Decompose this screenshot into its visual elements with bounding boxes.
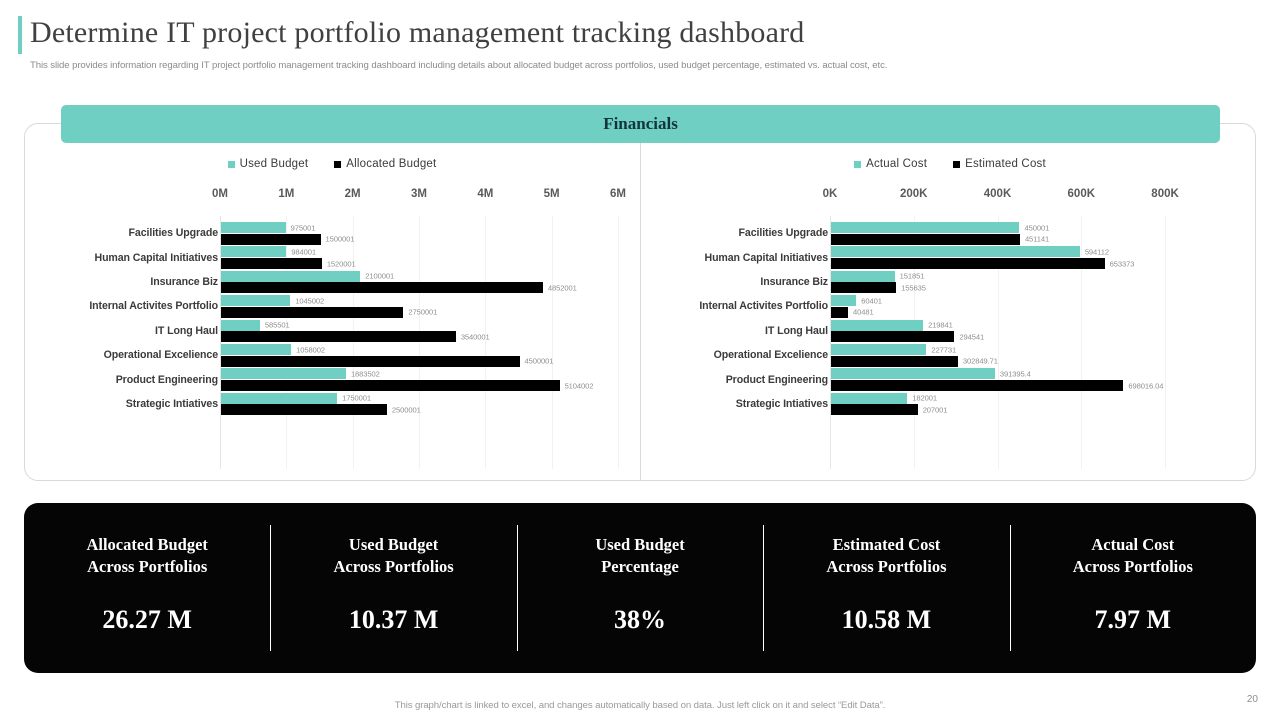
- bar-actual-cost[interactable]: [831, 344, 926, 355]
- axis-tick-label: 0K: [823, 188, 838, 200]
- bar-value-label: 1045002: [295, 296, 324, 305]
- chart-gridline: [419, 216, 420, 469]
- bar-value-label: 1520001: [327, 259, 356, 268]
- bar-value-label: 182001: [912, 394, 937, 403]
- financials-banner: Financials: [61, 105, 1220, 143]
- bar-used-budget[interactable]: [221, 344, 291, 355]
- category-label: Strategic Intiatives: [26, 398, 218, 410]
- bar-allocated-budget[interactable]: [221, 282, 543, 293]
- legend-item-estimated-cost[interactable]: Estimated Cost: [953, 158, 1046, 170]
- category-label: Insurance Biz: [26, 276, 218, 288]
- bar-value-label: 653373: [1110, 259, 1135, 268]
- footer-note: This graph/chart is linked to excel, and…: [0, 700, 1280, 711]
- kpi-card: Allocated BudgetAcross Portfolios26.27 M: [24, 503, 270, 673]
- kpi-title-line-2: Across Portfolios: [826, 556, 946, 578]
- bar-actual-cost[interactable]: [831, 222, 1019, 233]
- kpi-value: 10.37 M: [349, 605, 439, 635]
- bar-actual-cost[interactable]: [831, 393, 907, 404]
- category-label: Internal Activites Portfolio: [26, 300, 218, 312]
- chart-x-axis: 0K200K400K600K800K: [830, 188, 1186, 204]
- bar-used-budget[interactable]: [221, 222, 286, 233]
- chart-x-axis: 0M1M2M3M4M5M6M: [220, 188, 618, 204]
- financials-banner-label: Financials: [603, 114, 678, 134]
- legend-item-actual-cost[interactable]: Actual Cost: [854, 158, 927, 170]
- bar-allocated-budget[interactable]: [221, 404, 387, 415]
- page-subtitle: This slide provides information regardin…: [30, 59, 1180, 72]
- kpi-title: Estimated CostAcross Portfolios: [826, 534, 946, 578]
- kpi-value: 10.58 M: [842, 605, 932, 635]
- legend-item-allocated-budget[interactable]: Allocated Budget: [334, 158, 436, 170]
- category-label: Facilities Upgrade: [26, 227, 218, 239]
- kpi-title-line-1: Actual Cost: [1073, 534, 1193, 556]
- kpi-title: Used BudgetAcross Portfolios: [334, 534, 454, 578]
- bar-value-label: 40481: [853, 308, 874, 317]
- bar-value-label: 1883502: [351, 369, 380, 378]
- accent-bar: [18, 16, 22, 54]
- panel-divider: [640, 142, 641, 481]
- axis-tick-label: 600K: [1068, 188, 1096, 200]
- bar-value-label: 391395.4: [1000, 369, 1031, 378]
- kpi-card: Used BudgetAcross Portfolios10.37 M: [270, 503, 516, 673]
- slide-root: Determine IT project portfolio managemen…: [0, 0, 1280, 720]
- bar-allocated-budget[interactable]: [221, 331, 456, 342]
- legend-label: Used Budget: [240, 158, 309, 170]
- chart-legend: Actual CostEstimated Cost: [646, 158, 1254, 170]
- kpi-title-line-2: Percentage: [595, 556, 684, 578]
- bar-estimated-cost[interactable]: [831, 258, 1105, 269]
- bar-value-label: 3540001: [461, 332, 490, 341]
- bar-value-label: 151851: [900, 272, 925, 281]
- category-label: IT Long Haul: [646, 325, 828, 337]
- legend-swatch-icon: [953, 161, 960, 168]
- kpi-title-line-1: Used Budget: [334, 534, 454, 556]
- bar-allocated-budget[interactable]: [221, 258, 322, 269]
- axis-tick-label: 0M: [212, 188, 228, 200]
- bar-estimated-cost[interactable]: [831, 356, 958, 367]
- bar-value-label: 219841: [928, 321, 953, 330]
- category-label: Internal Activites Portfolio: [646, 300, 828, 312]
- budget-bar-chart[interactable]: Used BudgetAllocated Budget0M1M2M3M4M5M6…: [26, 150, 638, 475]
- bar-allocated-budget[interactable]: [221, 307, 403, 318]
- category-label: Product Engineering: [26, 374, 218, 386]
- bar-value-label: 2750001: [408, 308, 437, 317]
- chart-gridline: [286, 216, 287, 469]
- bar-value-label: 155635: [901, 283, 926, 292]
- axis-tick-label: 400K: [984, 188, 1012, 200]
- chart-plot-area: Facilities Upgrade450001451141Human Capi…: [646, 216, 1200, 469]
- chart-plot-area: Facilities Upgrade9750011500001Human Cap…: [26, 216, 632, 469]
- bar-value-label: 4500001: [525, 357, 554, 366]
- chart-legend: Used BudgetAllocated Budget: [26, 158, 638, 170]
- kpi-title-line-2: Across Portfolios: [334, 556, 454, 578]
- kpi-value: 7.97 M: [1095, 605, 1172, 635]
- axis-tick-label: 6M: [610, 188, 626, 200]
- bar-value-label: 4852001: [548, 283, 577, 292]
- bar-actual-cost[interactable]: [831, 246, 1080, 257]
- category-label: Strategic Intiatives: [646, 398, 828, 410]
- kpi-title: Allocated BudgetAcross Portfolios: [86, 534, 207, 578]
- bar-estimated-cost[interactable]: [831, 234, 1020, 245]
- axis-tick-label: 1M: [278, 188, 294, 200]
- kpi-card: Actual CostAcross Portfolios7.97 M: [1010, 503, 1256, 673]
- legend-label: Actual Cost: [866, 158, 927, 170]
- bar-value-label: 60401: [861, 296, 882, 305]
- kpi-title: Used BudgetPercentage: [595, 534, 684, 578]
- bar-value-label: 302849.71: [963, 357, 998, 366]
- category-label: Operational Excelience: [646, 349, 828, 361]
- axis-tick-label: 800K: [1151, 188, 1179, 200]
- bar-used-budget[interactable]: [221, 368, 346, 379]
- cost-bar-chart[interactable]: Actual CostEstimated Cost0K200K400K600K8…: [646, 150, 1254, 475]
- bar-value-label: 1058002: [296, 345, 325, 354]
- kpi-strip: Allocated BudgetAcross Portfolios26.27 M…: [24, 503, 1256, 673]
- category-label: Product Engineering: [646, 374, 828, 386]
- legend-swatch-icon: [854, 161, 861, 168]
- bar-estimated-cost[interactable]: [831, 404, 918, 415]
- bar-estimated-cost[interactable]: [831, 331, 954, 342]
- bar-value-label: 1750001: [342, 394, 371, 403]
- kpi-card: Used BudgetPercentage38%: [517, 503, 763, 673]
- axis-tick-label: 2M: [345, 188, 361, 200]
- bar-allocated-budget[interactable]: [221, 356, 520, 367]
- axis-tick-label: 200K: [900, 188, 928, 200]
- category-label: IT Long Haul: [26, 325, 218, 337]
- legend-label: Estimated Cost: [965, 158, 1046, 170]
- bar-value-label: 294541: [959, 332, 984, 341]
- bar-estimated-cost[interactable]: [831, 307, 848, 318]
- legend-label: Allocated Budget: [346, 158, 436, 170]
- bar-used-budget[interactable]: [221, 271, 360, 282]
- bar-value-label: 451141: [1025, 235, 1049, 244]
- bar-allocated-budget[interactable]: [221, 234, 321, 245]
- bar-value-label: 207001: [923, 405, 948, 414]
- kpi-value: 26.27 M: [102, 605, 192, 635]
- category-label: Human Capital Initiatives: [646, 252, 828, 264]
- kpi-title-line-2: Across Portfolios: [86, 556, 207, 578]
- legend-item-used-budget[interactable]: Used Budget: [228, 158, 309, 170]
- bar-allocated-budget[interactable]: [221, 380, 560, 391]
- axis-tick-label: 3M: [411, 188, 427, 200]
- bar-actual-cost[interactable]: [831, 271, 895, 282]
- bar-actual-cost[interactable]: [831, 320, 923, 331]
- chart-gridline: [1081, 216, 1082, 469]
- legend-swatch-icon: [228, 161, 235, 168]
- bar-value-label: 1500001: [326, 235, 355, 244]
- page-title: Determine IT project portfolio managemen…: [30, 14, 1230, 52]
- bar-value-label: 2500001: [392, 405, 421, 414]
- bar-used-budget[interactable]: [221, 246, 286, 257]
- kpi-title-line-1: Allocated Budget: [86, 534, 207, 556]
- axis-tick-label: 4M: [477, 188, 493, 200]
- axis-tick-label: 5M: [544, 188, 560, 200]
- chart-gridline: [552, 216, 553, 469]
- bar-value-label: 698016.04: [1128, 381, 1163, 390]
- bar-used-budget[interactable]: [221, 393, 337, 404]
- chart-gridline: [353, 216, 354, 469]
- bar-value-label: 984001: [291, 247, 316, 256]
- bar-value-label: 227731: [931, 345, 956, 354]
- bar-estimated-cost[interactable]: [831, 380, 1123, 391]
- bar-value-label: 2100001: [365, 272, 394, 281]
- page-number: 20: [1247, 694, 1258, 705]
- kpi-title-line-1: Used Budget: [595, 534, 684, 556]
- chart-gridline: [1165, 216, 1166, 469]
- category-label: Operational Excelience: [26, 349, 218, 361]
- category-label: Facilities Upgrade: [646, 227, 828, 239]
- chart-gridline: [618, 216, 619, 469]
- bar-value-label: 5104002: [565, 381, 594, 390]
- bar-used-budget[interactable]: [221, 295, 290, 306]
- bar-estimated-cost[interactable]: [831, 282, 896, 293]
- bar-value-label: 594112: [1085, 247, 1109, 256]
- bar-used-budget[interactable]: [221, 320, 260, 331]
- bar-actual-cost[interactable]: [831, 368, 995, 379]
- kpi-title-line-1: Estimated Cost: [826, 534, 946, 556]
- bar-actual-cost[interactable]: [831, 295, 856, 306]
- kpi-title-line-2: Across Portfolios: [1073, 556, 1193, 578]
- legend-swatch-icon: [334, 161, 341, 168]
- category-label: Insurance Biz: [646, 276, 828, 288]
- chart-gridline: [485, 216, 486, 469]
- bar-value-label: 975001: [291, 223, 316, 232]
- kpi-card: Estimated CostAcross Portfolios10.58 M: [763, 503, 1009, 673]
- category-label: Human Capital Initiatives: [26, 252, 218, 264]
- kpi-value: 38%: [614, 605, 666, 635]
- bar-value-label: 450001: [1024, 223, 1049, 232]
- bar-value-label: 585501: [265, 321, 290, 330]
- kpi-title: Actual CostAcross Portfolios: [1073, 534, 1193, 578]
